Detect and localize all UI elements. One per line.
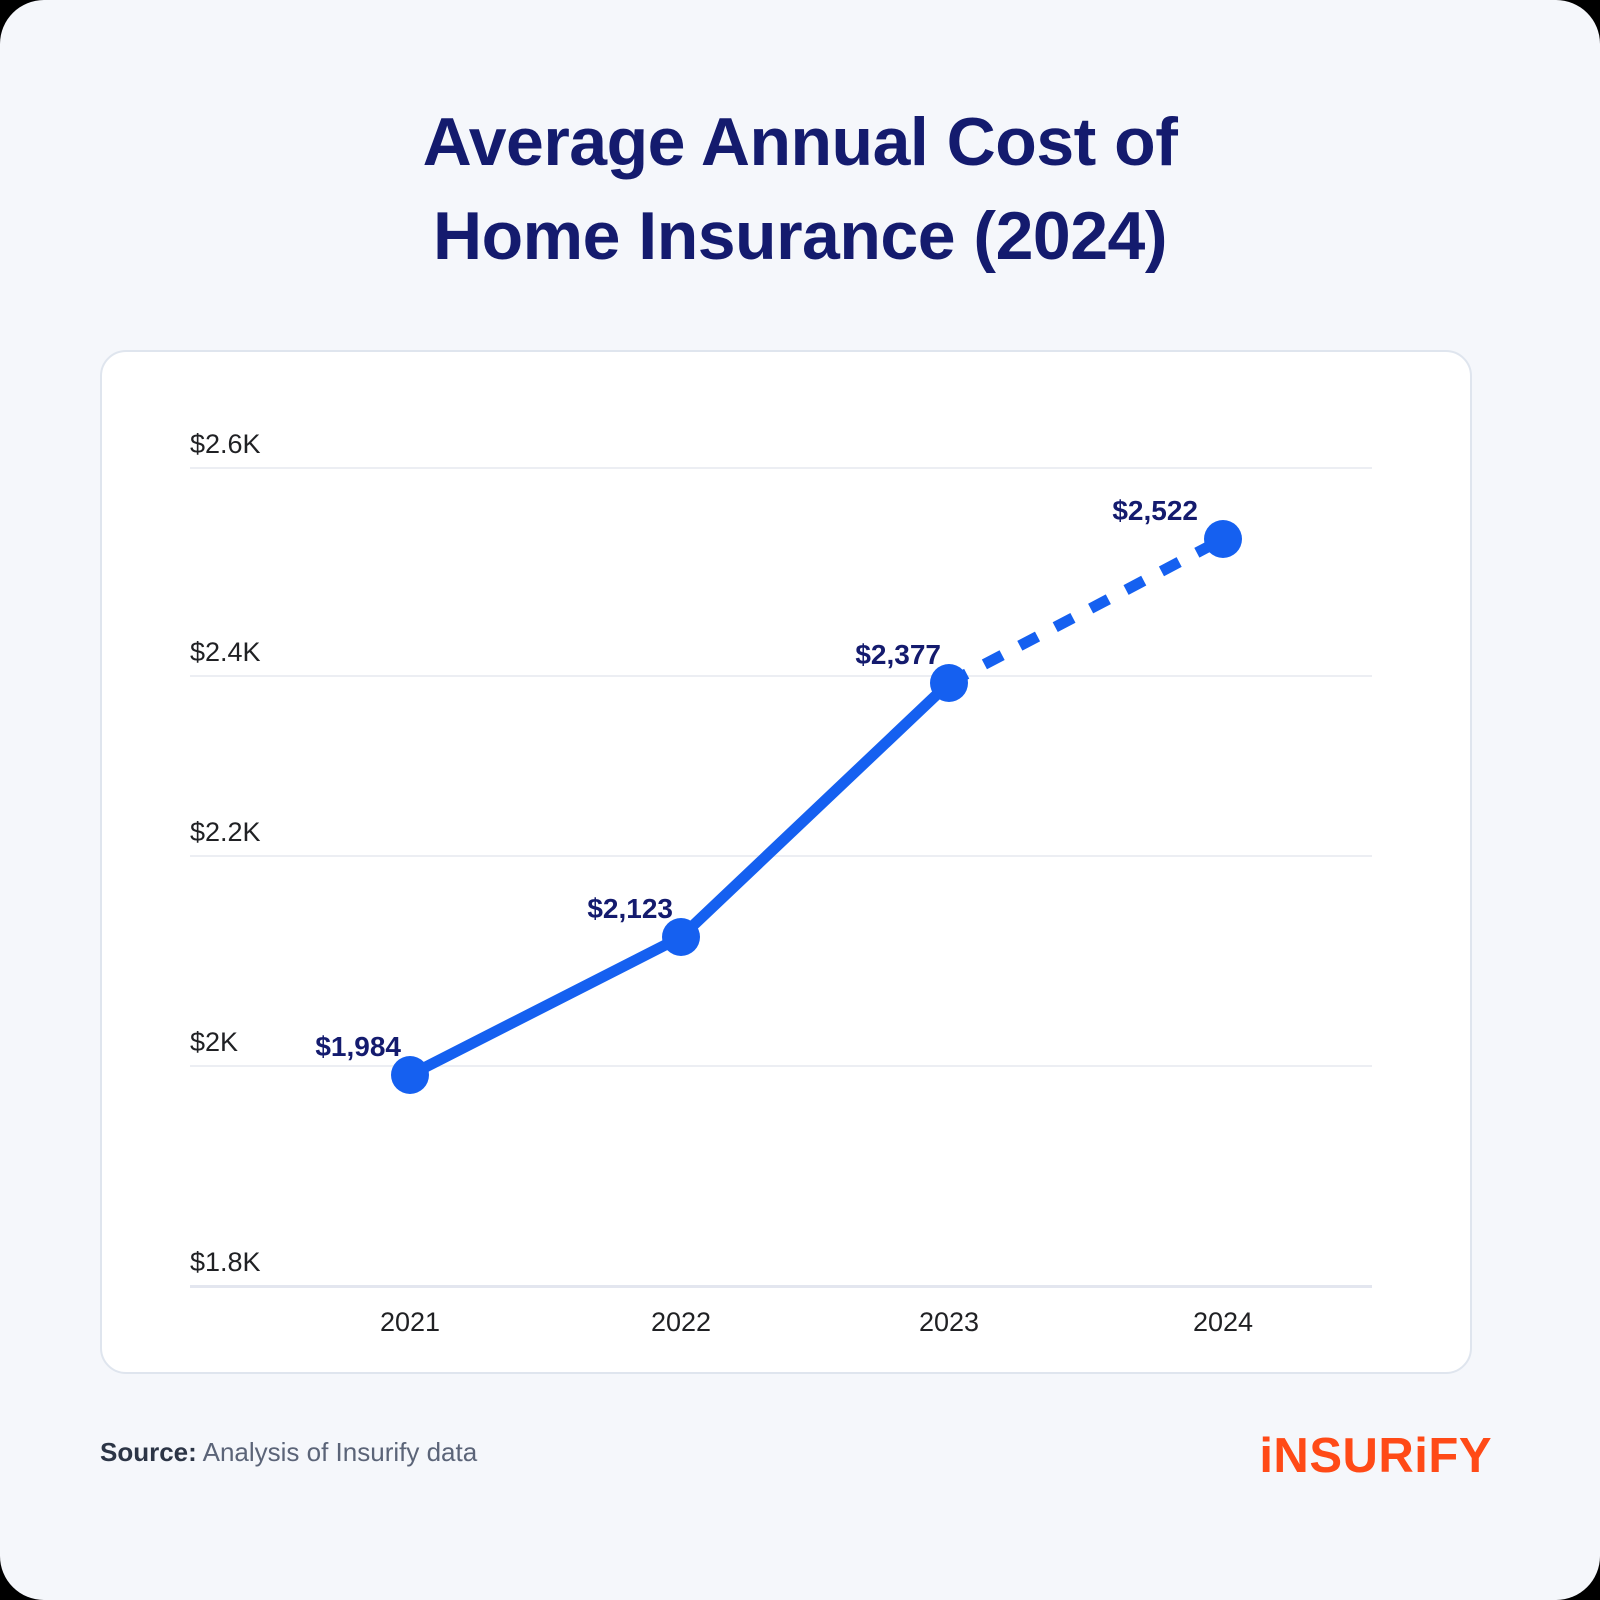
plot-area: $2.6K $2.4K $2.2K $2K $1.8K 2021 2022 20… — [102, 352, 1474, 1376]
source-text: Analysis of Insurify data — [197, 1437, 477, 1467]
data-label-2022: $2,123 — [587, 893, 673, 925]
page-title-line-2: Home Insurance (2024) — [0, 190, 1600, 284]
data-label-2021: $1,984 — [315, 1031, 401, 1063]
source-label: Source: — [100, 1437, 197, 1467]
insurify-logo-text: iNSURiFY — [1259, 1429, 1492, 1483]
chart-card: $2.6K $2.4K $2.2K $2K $1.8K 2021 2022 20… — [100, 350, 1472, 1374]
chart-page: Average Annual Cost of Home Insurance (2… — [0, 0, 1600, 1600]
data-label-2024: $2,522 — [1112, 495, 1198, 527]
page-title-line-1: Average Annual Cost of — [0, 96, 1600, 190]
page-title: Average Annual Cost of Home Insurance (2… — [0, 96, 1600, 284]
series-line-dashed — [949, 539, 1223, 683]
data-point-2024[interactable] — [1204, 520, 1242, 558]
data-label-2023: $2,377 — [855, 639, 941, 671]
series-svg — [102, 352, 1474, 1376]
series-line-solid — [410, 683, 949, 1075]
source-note: Source: Analysis of Insurify data — [100, 1437, 477, 1468]
insurify-logo[interactable]: iNSURiFY — [1259, 1428, 1492, 1484]
